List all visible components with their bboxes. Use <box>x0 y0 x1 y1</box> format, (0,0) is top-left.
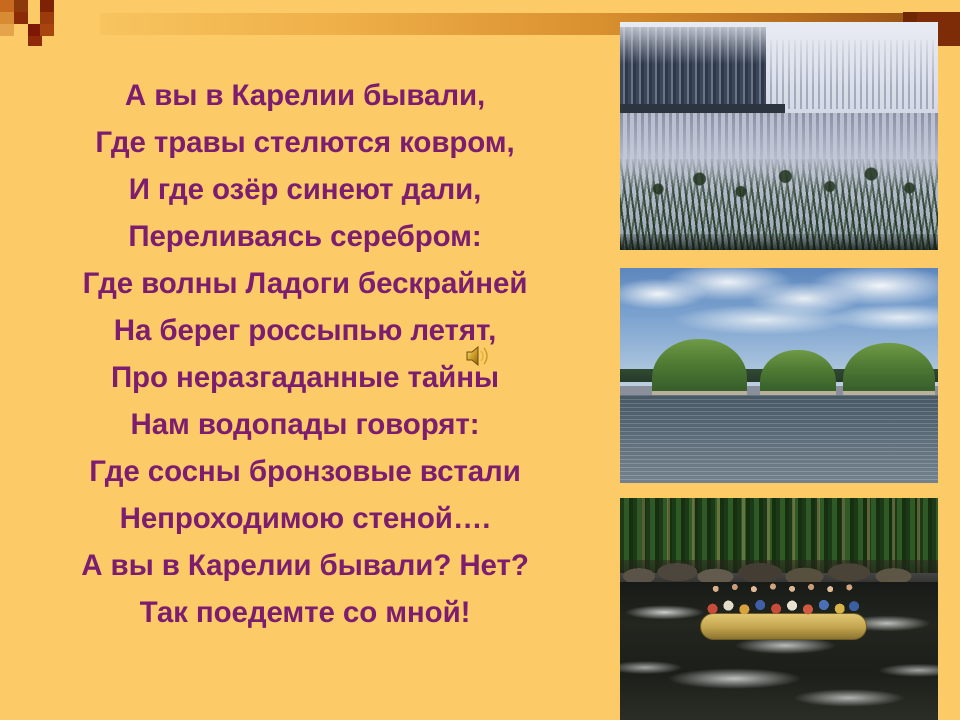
poem-line-4: Переливаясь серебром: <box>0 213 610 260</box>
poem-text: А вы в Карелии бывали,Где травы стелются… <box>0 72 610 636</box>
corner-decoration <box>0 0 56 46</box>
poem-line-11: А вы в Карелии бывали? Нет? <box>0 542 610 589</box>
poem-line-12: Так поедемте со мной! <box>0 589 610 636</box>
poem-line-6: На берег россыпью летят, <box>0 307 610 354</box>
poem-line-3: И где озёр синеют дали, <box>0 166 610 213</box>
poem-line-7: Про неразгаданные тайны <box>0 354 610 401</box>
corner-square-8 <box>0 24 14 36</box>
poem-line-9: Где сосны бронзовые встали <box>0 448 610 495</box>
photo3-rafter-heads <box>703 578 862 596</box>
misty-lake-forest-photo <box>620 22 938 250</box>
photo1-grass-tops <box>620 159 938 209</box>
corner-square-2 <box>14 0 28 12</box>
corner-square-4 <box>0 12 14 24</box>
poem-line-1: А вы в Карелии бывали, <box>0 72 610 119</box>
poem-line-8: Нам водопады говорят: <box>0 401 610 448</box>
corner-square-7 <box>40 12 54 24</box>
corner-square-11 <box>40 24 54 36</box>
photo2-ripples <box>620 395 938 483</box>
corner-square-9 <box>14 24 28 36</box>
corner-square-1 <box>0 0 14 12</box>
photo1-bottom-strip <box>620 234 938 250</box>
presentation-slide: А вы в Карелии бывали,Где травы стелются… <box>0 0 960 720</box>
corner-square-3 <box>40 0 54 12</box>
corner-square-12 <box>28 36 42 46</box>
poem-line-2: Где травы стелются ковром, <box>0 119 610 166</box>
poem-line-10: Непроходимою стеной…. <box>0 495 610 542</box>
rafting-rapids-photo <box>620 498 938 720</box>
photo1-near-trees <box>620 27 766 109</box>
corner-square-5 <box>14 12 28 24</box>
lake-islands-photo <box>620 268 938 483</box>
poem-line-5: Где волны Ладоги бескрайней <box>0 260 610 307</box>
top-right-accent-edge <box>903 12 917 22</box>
